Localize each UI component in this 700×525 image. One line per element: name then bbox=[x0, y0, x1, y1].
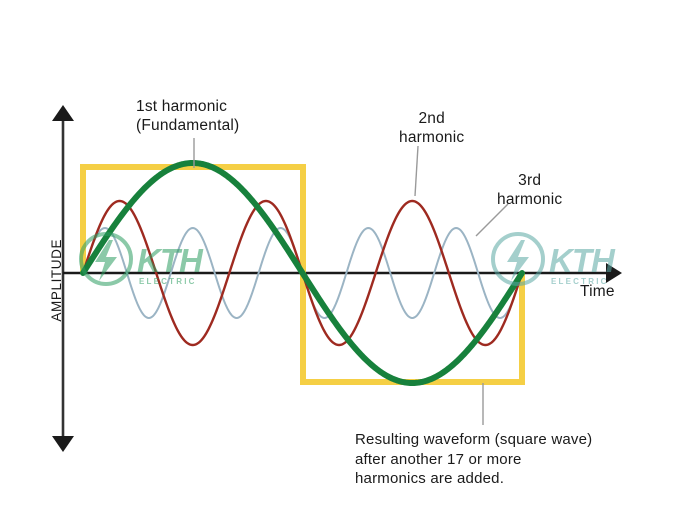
label-third-harmonic-line1: 3rd bbox=[518, 172, 541, 189]
label-result-line3: harmonics are added. bbox=[355, 470, 504, 487]
label-first-harmonic: 1st harmonic(Fundamental) bbox=[136, 98, 239, 136]
label-result-line2: after another 17 or more bbox=[355, 451, 522, 468]
second-leader bbox=[415, 146, 418, 196]
label-third-harmonic: 3rdharmonic bbox=[497, 172, 562, 210]
harmonics-plot bbox=[0, 0, 700, 525]
label-second-harmonic-line1: 2nd bbox=[418, 110, 444, 127]
x-axis-label: Time bbox=[580, 283, 615, 302]
figure-canvas: KTHELECTRIC KTHELECTRIC 1st harmonic(Fun… bbox=[0, 0, 700, 525]
y-axis-label: AMPLITUDE bbox=[49, 220, 65, 340]
label-first-harmonic-line1: 1st harmonic bbox=[136, 98, 227, 115]
label-first-harmonic-line2: (Fundamental) bbox=[136, 117, 239, 134]
label-second-harmonic: 2ndharmonic bbox=[399, 110, 464, 148]
label-second-harmonic-line2: harmonic bbox=[399, 129, 464, 146]
label-resulting-waveform: Resulting waveform (square wave)after an… bbox=[355, 430, 592, 489]
axes-group bbox=[52, 105, 622, 452]
y-axis-arrow-down bbox=[52, 436, 74, 452]
y-axis-arrow-up bbox=[52, 105, 74, 121]
x-axis-arrow bbox=[606, 263, 622, 283]
label-result-line1: Resulting waveform (square wave) bbox=[355, 431, 592, 448]
label-third-harmonic-line2: harmonic bbox=[497, 191, 562, 208]
